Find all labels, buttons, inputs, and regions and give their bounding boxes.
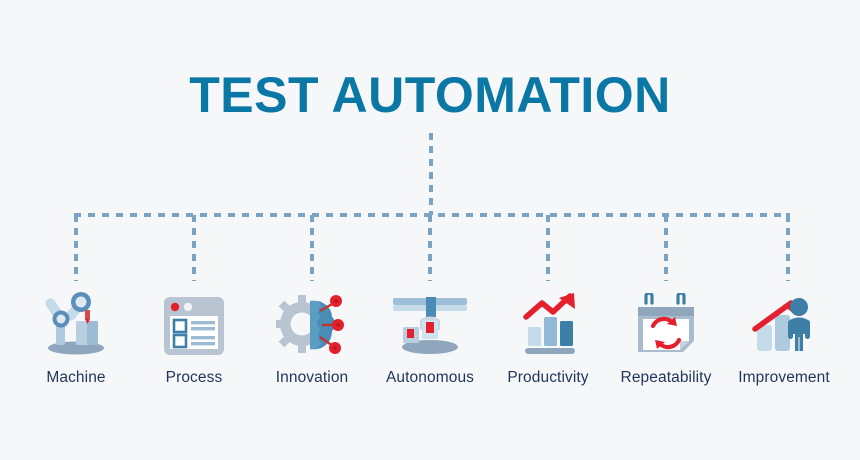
connector-root-stem — [429, 133, 433, 215]
gear-brain-icon — [252, 285, 372, 357]
branch-improvement[interactable]: Improvement — [724, 285, 844, 387]
connector-drop-5 — [546, 215, 550, 281]
branch-autonomous[interactable]: Autonomous — [370, 285, 490, 387]
robot-arm-icon — [16, 285, 136, 357]
bar-chart-arrow-icon — [488, 285, 608, 357]
branch-label-process: Process — [134, 369, 254, 387]
connector-drop-6 — [664, 215, 668, 281]
connector-drop-4 — [428, 215, 432, 281]
growth-person-icon — [724, 285, 844, 357]
infographic-canvas: TEST AUTOMATION — [0, 0, 860, 460]
branch-repeatability[interactable]: Repeatability — [606, 285, 726, 387]
calendar-refresh-icon — [606, 285, 726, 357]
connector-drop-7 — [786, 215, 790, 281]
branch-machine[interactable]: Machine — [16, 285, 136, 387]
branch-process[interactable]: Process — [134, 285, 254, 387]
connector-drop-3 — [310, 215, 314, 281]
branch-label-innovation: Innovation — [252, 369, 372, 387]
checklist-window-icon — [134, 285, 254, 357]
connector-horizontal-bus — [74, 213, 790, 217]
connector-drop-1 — [74, 215, 78, 281]
branch-label-autonomous: Autonomous — [370, 369, 490, 387]
connector-drop-2 — [192, 215, 196, 281]
branch-label-machine: Machine — [16, 369, 136, 387]
branch-label-improvement: Improvement — [724, 369, 844, 387]
branch-label-repeatability: Repeatability — [606, 369, 726, 387]
branch-label-productivity: Productivity — [488, 369, 608, 387]
gantry-crane-icon — [370, 285, 490, 357]
branch-innovation[interactable]: Innovation — [252, 285, 372, 387]
branch-productivity[interactable]: Productivity — [488, 285, 608, 387]
page-title: TEST AUTOMATION — [0, 68, 860, 123]
